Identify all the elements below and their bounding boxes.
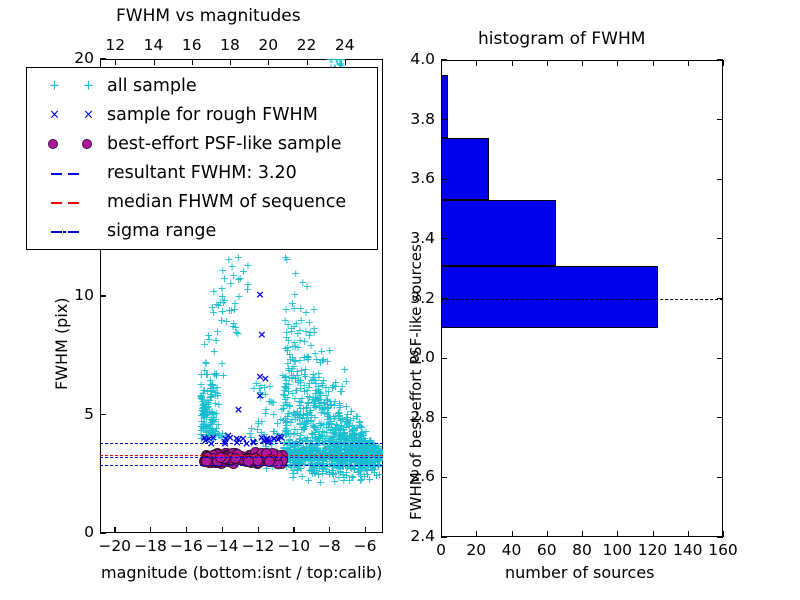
- right-x-tick-label: 80: [564, 541, 600, 559]
- right-x-tick-label: 60: [529, 541, 565, 559]
- reference-line-resultant-fwhm: [100, 457, 383, 458]
- left-panel-ylabel: FWHM (pix): [52, 298, 71, 391]
- left-x-tick-label-top: 12: [99, 36, 131, 54]
- left-x-tick-label: −10: [277, 537, 309, 555]
- left-x-tick-label: −16: [170, 537, 202, 555]
- reference-line-median-fhwm-of-sequence: [100, 455, 383, 456]
- line-sample-icon: [68, 202, 79, 204]
- left-x-tick-label-top: 24: [329, 36, 361, 54]
- legend-entry[interactable]: median FHWM of sequence: [35, 187, 377, 216]
- right-y-tick-label: 3.8: [393, 110, 435, 128]
- legend-label: median FHWM of sequence: [107, 192, 346, 212]
- cross-icon: ×: [83, 107, 94, 122]
- line-sample-icon: [68, 173, 79, 175]
- legend-entry[interactable]: sigma range: [35, 216, 377, 245]
- left-x-tick-label-top: 18: [214, 36, 246, 54]
- cross-icon: ×: [49, 107, 60, 122]
- line-sample-icon: [68, 231, 79, 233]
- legend-label: resultant FWHM: 3.20: [107, 163, 297, 183]
- right-y-tick-label: 4.0: [393, 50, 435, 68]
- left-x-tick-label: −20: [98, 537, 130, 555]
- legend-label: all sample: [107, 76, 197, 96]
- legend-dot-icon: [35, 129, 107, 158]
- left-x-tick-label: −8: [313, 537, 345, 555]
- legend-cross-icon: ××: [35, 100, 107, 129]
- legend-line-icon: [35, 158, 107, 187]
- right-x-tick-label: 160: [705, 541, 741, 559]
- right-panel-xlabel: number of sources: [505, 563, 655, 582]
- legend-entry[interactable]: ××sample for rough FWHM: [35, 100, 377, 129]
- right-x-tick-label: 120: [635, 541, 671, 559]
- right-x-tick-label: 20: [458, 541, 494, 559]
- right-panel-title: histogram of FWHM: [478, 29, 645, 49]
- right-x-tick-label: 40: [494, 541, 530, 559]
- circle-icon: [48, 139, 58, 149]
- line-sample-icon: [51, 173, 62, 175]
- legend-entry[interactable]: ++all sample: [35, 71, 377, 100]
- right-x-tick-label: 140: [670, 541, 706, 559]
- reference-line-sigma-range-lower: [100, 465, 383, 466]
- line-sample-icon: [51, 231, 62, 233]
- legend-plus-icon: ++: [35, 71, 107, 100]
- right-x-tick-label: 0: [423, 541, 459, 559]
- legend-label: sigma range: [107, 221, 216, 241]
- left-panel-xlabel: magnitude (bottom:isnt / top:calib): [101, 563, 382, 582]
- left-x-tick-label: −6: [349, 537, 381, 555]
- reference-line-resultant-fwhm: [441, 299, 723, 300]
- right-panel-ylabel: FWHM of best-effort PSF-like sources: [407, 244, 425, 520]
- circle-icon: [82, 139, 92, 149]
- right-plot-reference-lines: [441, 60, 761, 537]
- left-x-tick-label-top: 16: [176, 36, 208, 54]
- legend-entry[interactable]: resultant FWHM: 3.20: [35, 158, 377, 187]
- right-y-tick-label: 3.6: [393, 169, 435, 187]
- plus-icon: +: [83, 78, 94, 93]
- legend-line-icon: [35, 216, 107, 245]
- left-x-tick-label: −12: [242, 537, 274, 555]
- left-panel-title: FWHM vs magnitudes: [116, 6, 301, 26]
- legend-line-icon: [35, 187, 107, 216]
- figure-canvas: FWHM vs magnitudes 12141618202224 ++++++…: [0, 0, 800, 600]
- left-x-tick-label-top: 22: [291, 36, 323, 54]
- line-sample-icon: [51, 202, 62, 204]
- left-y-tick-label: 20: [58, 49, 94, 67]
- dot-segment-icon: [63, 231, 66, 233]
- legend-label: best-effort PSF-like sample: [107, 134, 342, 154]
- left-x-tick-label-top: 20: [252, 36, 284, 54]
- reference-line-sigma-range-upper: [100, 443, 383, 444]
- left-y-tick-label: 0: [58, 523, 94, 541]
- left-x-tick-label-top: 14: [138, 36, 170, 54]
- legend-label: sample for rough FWHM: [107, 105, 318, 125]
- left-x-tick-label: −14: [206, 537, 238, 555]
- left-x-tick-label: −18: [134, 537, 166, 555]
- legend-rows: ++all sample××sample for rough FWHMbest-…: [35, 71, 377, 245]
- legend-entry[interactable]: best-effort PSF-like sample: [35, 129, 377, 158]
- legend-box: ++all sample××sample for rough FWHMbest-…: [26, 67, 378, 250]
- left-y-tick-label: 5: [58, 405, 94, 423]
- right-x-tick-label: 100: [599, 541, 635, 559]
- plus-icon: +: [49, 78, 60, 93]
